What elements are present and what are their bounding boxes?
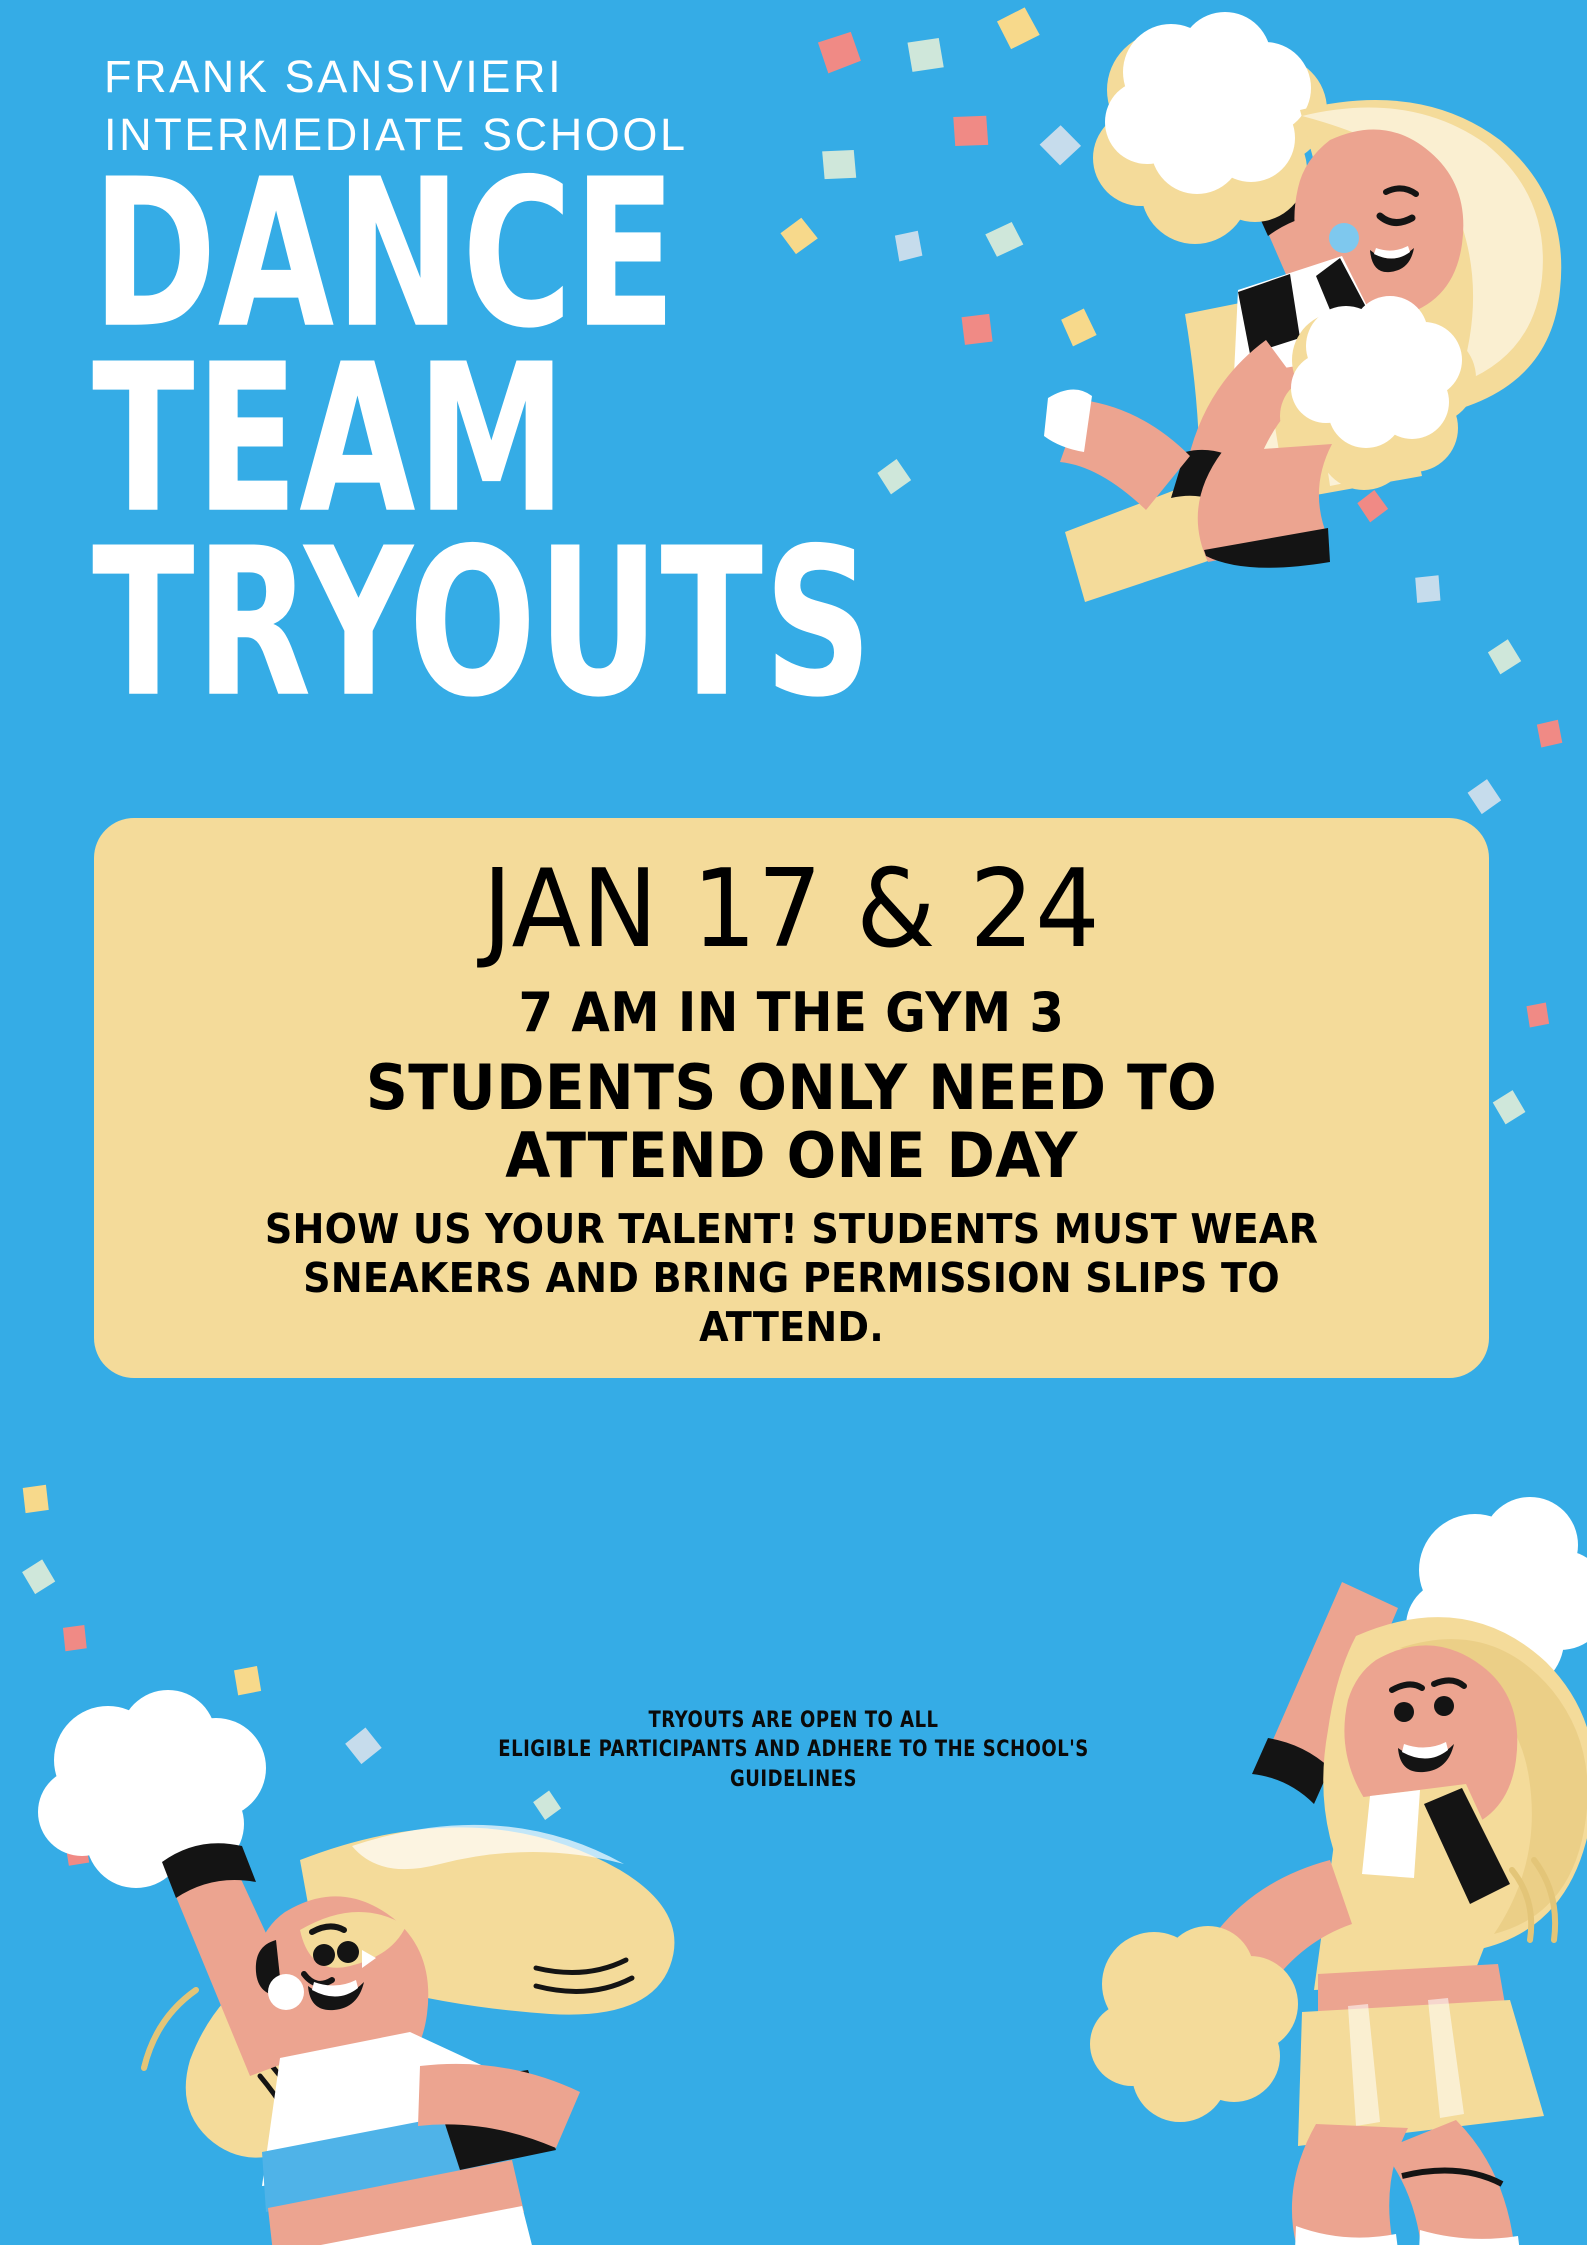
- requirements-note: SHOW US YOUR TALENT! STUDENTS MUST WEAR …: [186, 1205, 1398, 1353]
- poster-canvas: FRANK SANSIVIERI INTERMEDIATE SCHOOL DAN…: [0, 0, 1587, 2245]
- title-line-team: TEAM: [92, 353, 866, 529]
- tryout-time-location: 7 AM IN THE GYM 3: [192, 982, 1391, 1045]
- fine-print: TRYOUTS ARE OPEN TO ALL ELIGIBLE PARTICI…: [143, 1706, 1444, 1794]
- attendance-rule: STUDENTS ONLY NEED TO ATTEND ONE DAY: [179, 1054, 1404, 1190]
- info-card: JAN 17 & 24 7 AM IN THE GYM 3 STUDENTS O…: [94, 818, 1489, 1378]
- title-line-tryouts: TRYOUTS: [92, 537, 866, 713]
- page-title: DANCE TEAM TRYOUTS: [92, 168, 992, 688]
- tryout-date: JAN 17 & 24: [179, 852, 1404, 968]
- title-line-dance: DANCE: [92, 168, 866, 344]
